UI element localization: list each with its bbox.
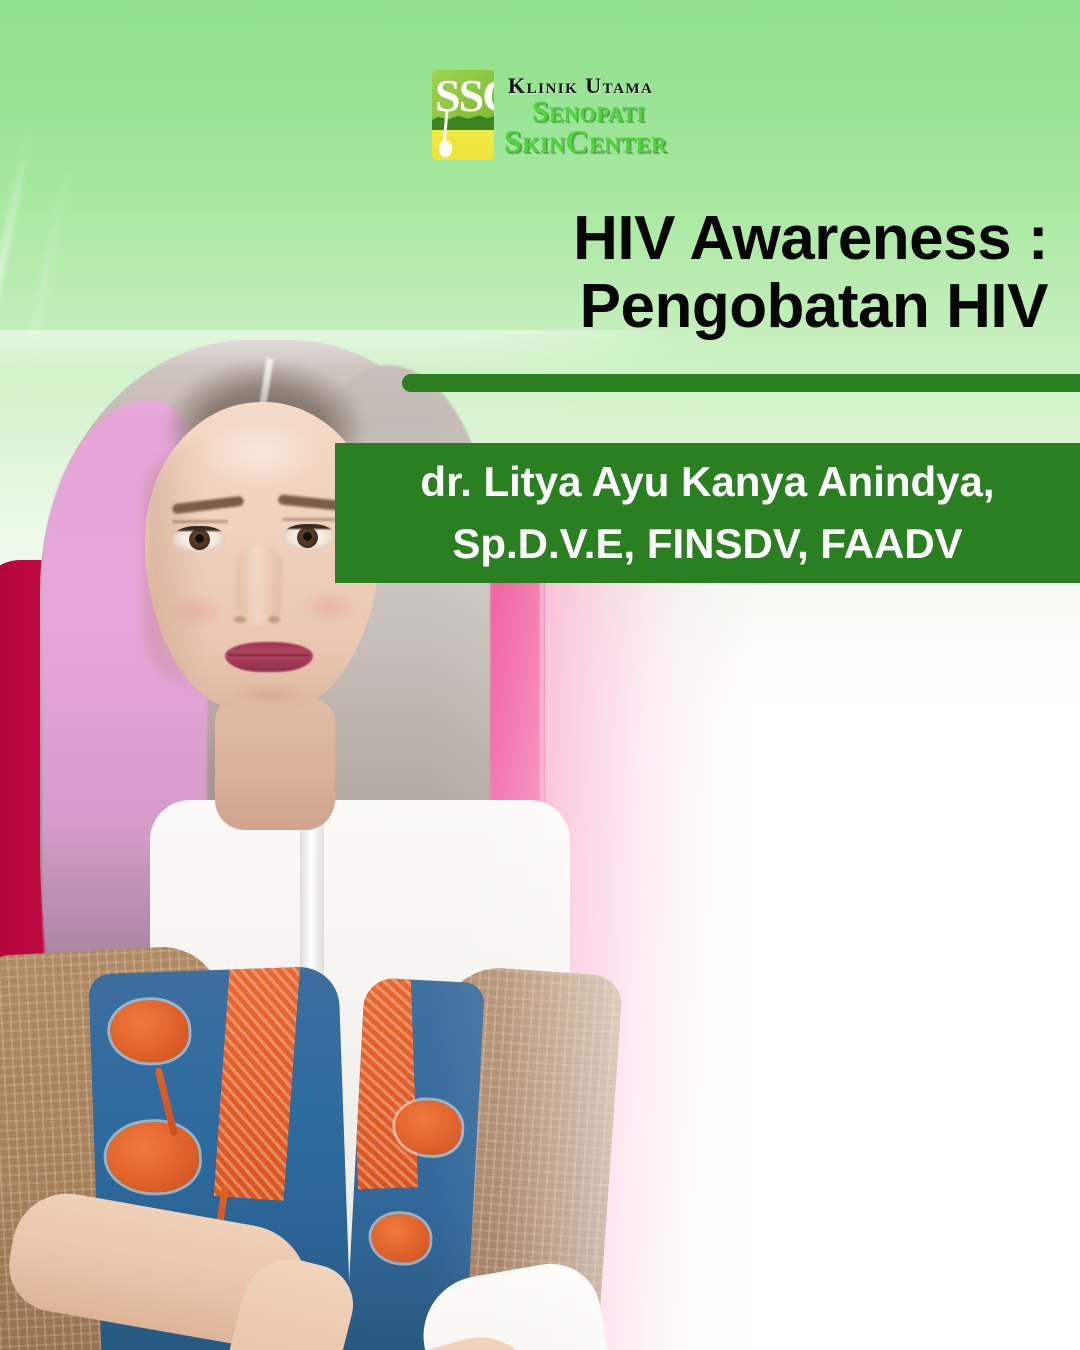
nose [236,545,282,625]
poster-canvas: SSC Klinik Utama Senopati SkinCenter HIV… [0,0,1080,1350]
eyelid-crease-left [172,520,228,523]
eyelash [282,524,336,529]
headline-line-2: Pengobatan HIV [300,273,1048,341]
logo-wordmark: Klinik Utama Senopati SkinCenter [504,74,667,156]
logo-line-skincenter: SkinCenter [504,126,667,156]
clinic-logo: SSC Klinik Utama Senopati SkinCenter [432,70,667,160]
pupil [195,534,204,543]
lips [225,642,313,672]
logo-line-senopati: Senopati [532,98,667,126]
doctor-name-banner: dr. Litya Ayu Kanya Anindya, Sp.D.V.E, F… [335,443,1080,583]
follicle-bulb-icon [439,140,452,157]
cheek-blush-left [165,592,225,630]
face-shadow [145,440,205,690]
headline-line-1: HIV Awareness : [573,204,1048,273]
eye-left [172,526,226,552]
batik-flower [109,999,189,1064]
doctor-name-line-2: Sp.D.V.E, FINSDV, FAADV [452,513,962,575]
neck [215,700,335,830]
nostril [234,616,246,623]
ssc-logo-mark-icon: SSC [432,70,494,160]
pupil [303,532,312,541]
eyelid-crease-right [282,518,338,521]
nostril [268,616,280,623]
logo-monogram: SSC [435,73,494,119]
batik-flower [370,1213,430,1264]
headline-title: HIV Awareness : Pengobatan HIV [300,205,1048,341]
chin-shadow [230,682,310,706]
doctor-name-line-1: dr. Litya Ayu Kanya Anindya, [420,451,994,513]
lip-line [228,654,310,656]
eyelash [172,526,226,531]
batik-flower [105,1121,199,1194]
eye-right [282,524,336,550]
forehead-highlight [200,418,320,488]
green-divider-rule [402,374,1080,392]
cheek-blush-right [300,588,360,626]
batik-orange-band [214,966,301,1201]
